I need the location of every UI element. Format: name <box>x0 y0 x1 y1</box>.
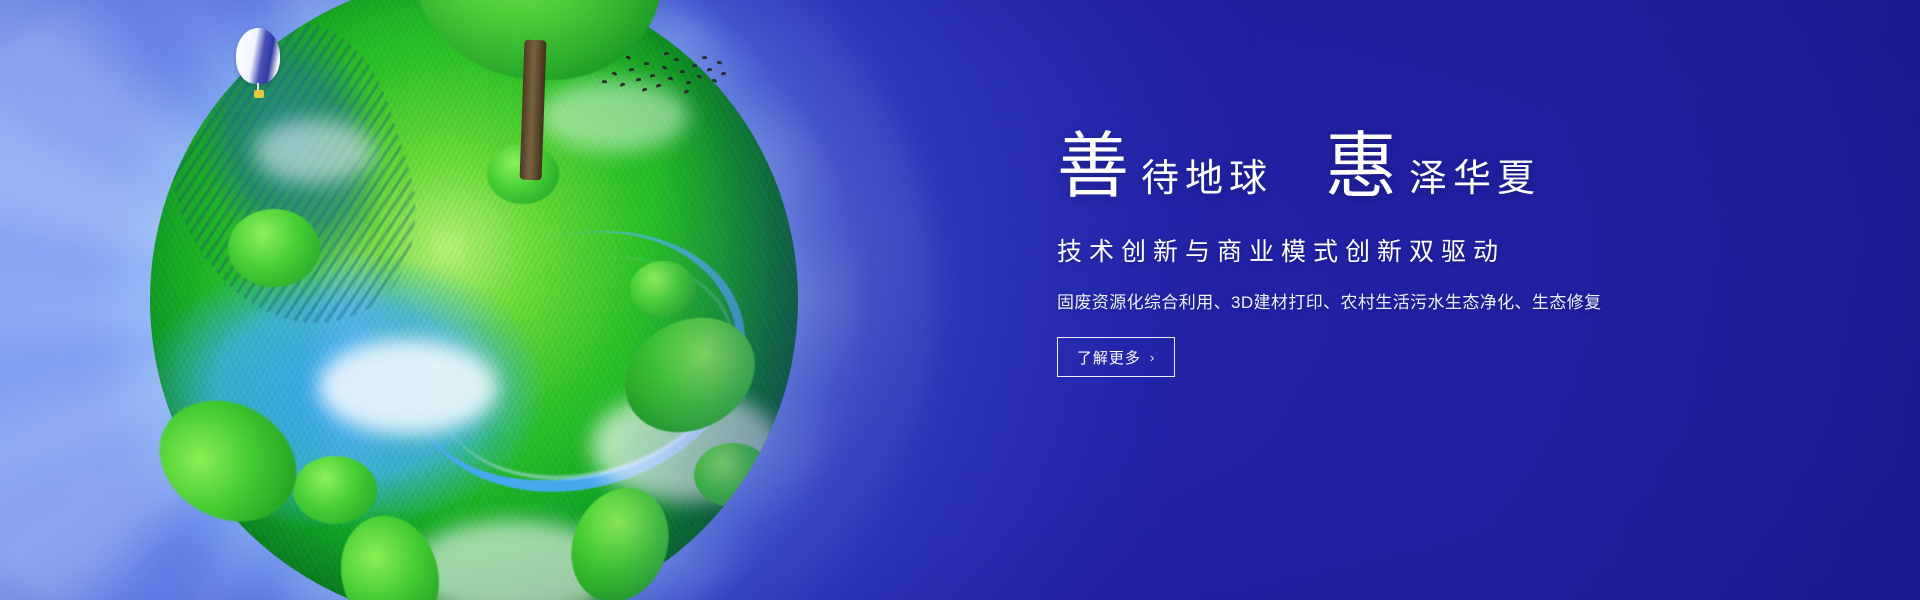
chevron-right-icon: › <box>1150 350 1155 365</box>
hero-content: 善 待地球 惠 泽华夏 技术创新与商业模式创新双驱动 固废资源化综合利用、3D建… <box>1057 130 1817 377</box>
bird-icon <box>692 63 698 67</box>
headline-part2-large: 惠 <box>1325 130 1397 202</box>
bird-icon <box>636 78 641 82</box>
balloon-basket <box>254 90 264 98</box>
bird-icon <box>650 74 655 78</box>
hot-air-balloon-icon <box>236 28 280 102</box>
cloud-patch <box>318 339 498 435</box>
bird-icon <box>668 76 674 80</box>
bird-icon <box>626 55 632 60</box>
bird-icon <box>674 58 679 62</box>
tree-cluster <box>694 443 772 507</box>
bird-icon <box>656 83 662 87</box>
bird-icon <box>680 70 685 73</box>
bird-icon <box>707 68 713 72</box>
birds-flock-icon <box>598 50 723 94</box>
bird-icon <box>684 89 690 94</box>
bird-icon <box>642 87 648 91</box>
tree-cluster <box>630 261 696 317</box>
page-description: 固废资源化综合利用、3D建材打印、农村生活污水生态净化、生态修复 <box>1057 288 1817 313</box>
hero-banner: 善 待地球 惠 泽华夏 技术创新与商业模式创新双驱动 固废资源化综合利用、3D建… <box>0 0 1920 600</box>
headline-part1-large: 善 <box>1057 130 1129 202</box>
headline-part2-small: 泽华夏 <box>1409 159 1541 197</box>
bird-icon <box>697 74 703 78</box>
learn-more-button[interactable]: 了解更多 › <box>1057 337 1175 377</box>
tree-cluster <box>228 209 320 287</box>
bird-icon <box>629 68 634 72</box>
bird-icon <box>664 51 670 55</box>
balloon-envelope <box>236 28 280 84</box>
cloud-patch <box>254 119 374 183</box>
headline-part1-small: 待地球 <box>1141 159 1273 197</box>
bird-icon <box>620 82 626 87</box>
learn-more-label: 了解更多 <box>1077 347 1141 368</box>
bird-icon <box>612 71 618 76</box>
page-title: 善 待地球 惠 泽华夏 <box>1057 130 1817 226</box>
bird-icon <box>686 81 691 85</box>
bird-icon <box>712 78 718 83</box>
bird-icon <box>644 62 649 65</box>
bird-icon <box>662 65 668 70</box>
tree-trunk <box>520 40 547 181</box>
bird-icon <box>702 56 707 59</box>
bird-icon <box>602 80 607 83</box>
bird-icon <box>717 61 722 65</box>
page-subtitle: 技术创新与商业模式创新双驱动 <box>1057 232 1817 268</box>
